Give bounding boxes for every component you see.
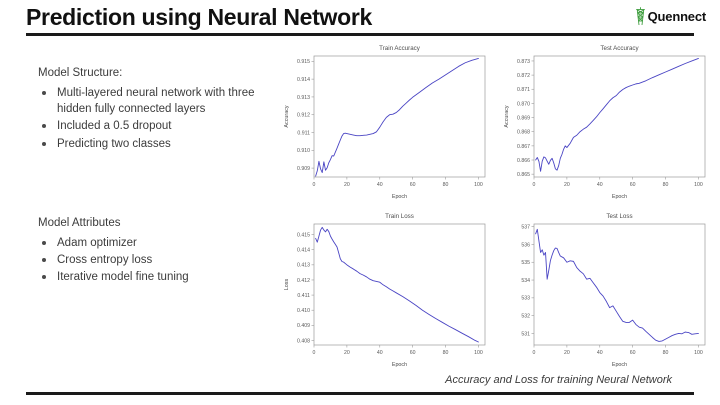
x-axis-tick-label: 20 <box>564 182 570 188</box>
y-axis-tick-label: 0.912 <box>297 113 310 119</box>
y-axis-tick-label: 0.872 <box>517 73 530 79</box>
footer-divider <box>26 392 694 395</box>
model-attributes-list: Adam optimizer Cross entropy loss Iterat… <box>38 235 260 286</box>
x-axis-tick-label: 60 <box>410 350 416 356</box>
brand-name: Quennect <box>648 9 706 24</box>
x-axis-tick-label: 40 <box>377 350 383 356</box>
chart-title: Test Loss <box>606 213 632 220</box>
x-axis-tick-label: 100 <box>694 182 703 188</box>
x-axis-tick-label: 40 <box>377 182 383 188</box>
y-axis-tick-label: 0.415 <box>297 232 310 238</box>
y-axis-tick-label: 536 <box>521 242 530 248</box>
x-axis-tick-label: 20 <box>344 182 350 188</box>
x-axis-tick-label: 0 <box>533 350 536 356</box>
x-axis-tick-label: 100 <box>474 350 483 356</box>
list-item-text: Iterative model fine tuning <box>57 271 189 283</box>
x-axis-tick-label: 80 <box>443 182 449 188</box>
list-item-text: Multi-layered neural network with three … <box>57 87 255 115</box>
y-axis-tick-label: 537 <box>521 225 530 231</box>
y-axis-tick-label: 535 <box>521 260 530 266</box>
list-item-text: Adam optimizer <box>57 237 137 249</box>
y-axis-tick-label: 0.866 <box>517 158 530 164</box>
y-axis-tick-label: 0.911 <box>297 130 310 136</box>
model-structure-list: Multi-layered neural network with three … <box>38 85 260 152</box>
list-item: Predicting two classes <box>38 136 260 152</box>
bullet-icon <box>42 275 46 279</box>
list-item: Multi-layered neural network with three … <box>38 85 260 118</box>
y-axis-tick-label: 534 <box>521 278 530 284</box>
x-axis-tick-label: 40 <box>597 182 603 188</box>
transmission-tower-icon <box>634 6 647 26</box>
chart-test-loss: Test Loss5315325335345355365370204060801… <box>498 208 713 371</box>
y-axis-tick-label: 0.913 <box>297 95 310 101</box>
y-axis-label: Accuracy <box>504 105 510 127</box>
y-axis-tick-label: 532 <box>521 314 530 320</box>
y-axis-tick-label: 0.915 <box>297 59 310 65</box>
chart-title: Train Accuracy <box>379 45 421 52</box>
series-line <box>316 58 479 176</box>
series-line <box>536 58 699 171</box>
chart-title: Train Loss <box>385 213 414 220</box>
x-axis-tick-label: 0 <box>313 350 316 356</box>
chart-train-accuracy: Train Accuracy0.9090.9100.9110.9120.9130… <box>278 40 493 203</box>
list-item: Included a 0.5 dropout <box>38 118 260 134</box>
x-axis-label: Epoch <box>612 194 627 200</box>
x-axis-tick-label: 60 <box>410 182 416 188</box>
bullet-icon <box>42 142 46 146</box>
chart-title: Test Accuracy <box>600 45 639 52</box>
figure-caption: Accuracy and Loss for training Neural Ne… <box>445 374 672 386</box>
x-axis-tick-label: 0 <box>533 182 536 188</box>
y-axis-tick-label: 0.871 <box>517 87 530 93</box>
x-axis-tick-label: 100 <box>694 350 703 356</box>
y-axis-tick-label: 0.413 <box>297 263 310 269</box>
y-axis-tick-label: 0.869 <box>517 115 530 121</box>
x-axis-tick-label: 40 <box>597 350 603 356</box>
bullet-icon <box>42 124 46 128</box>
model-structure-block: Model Structure: Multi-layered neural ne… <box>38 66 260 153</box>
page-title: Prediction using Neural Network <box>26 4 372 31</box>
y-axis-tick-label: 0.910 <box>297 148 310 154</box>
header-divider <box>26 33 694 36</box>
list-item: Iterative model fine tuning <box>38 269 260 285</box>
list-item-text: Included a 0.5 dropout <box>57 120 171 132</box>
x-axis-tick-label: 80 <box>663 350 669 356</box>
bullet-icon <box>42 91 46 95</box>
y-axis-tick-label: 531 <box>521 331 530 337</box>
y-axis-tick-label: 0.408 <box>297 338 310 344</box>
model-structure-heading: Model Structure: <box>38 66 260 82</box>
y-axis-tick-label: 0.409 <box>297 323 310 329</box>
list-item: Adam optimizer <box>38 235 260 251</box>
x-axis-tick-label: 60 <box>630 350 636 356</box>
y-axis-tick-label: 0.412 <box>297 278 310 284</box>
series-line <box>536 229 699 341</box>
y-axis-label: Accuracy <box>284 105 290 127</box>
list-item: Cross entropy loss <box>38 252 260 268</box>
x-axis-tick-label: 100 <box>474 182 483 188</box>
bullet-icon <box>42 241 46 245</box>
y-axis-tick-label: 0.868 <box>517 130 530 136</box>
x-axis-label: Epoch <box>392 194 407 200</box>
y-axis-tick-label: 0.873 <box>517 59 530 65</box>
y-axis-label: Loss <box>284 279 290 291</box>
y-axis-tick-label: 0.909 <box>297 166 310 172</box>
y-axis-tick-label: 533 <box>521 296 530 302</box>
x-axis-label: Epoch <box>392 362 407 368</box>
y-axis-tick-label: 0.411 <box>297 293 310 299</box>
y-axis-tick-label: 0.414 <box>297 248 310 254</box>
x-axis-tick-label: 60 <box>630 182 636 188</box>
list-item-text: Predicting two classes <box>57 138 171 150</box>
x-axis-tick-label: 20 <box>564 350 570 356</box>
chart-train-loss: Train Loss0.4080.4090.4100.4110.4120.413… <box>278 208 493 371</box>
brand-logo: Quennect <box>634 6 706 26</box>
bullet-icon <box>42 258 46 262</box>
y-axis-tick-label: 0.914 <box>297 77 310 83</box>
y-axis-tick-label: 0.867 <box>517 144 530 150</box>
chart-test-accuracy: Test Accuracy0.8650.8660.8670.8680.8690.… <box>498 40 713 203</box>
y-axis-tick-label: 0.865 <box>517 172 530 178</box>
x-axis-tick-label: 80 <box>443 350 449 356</box>
model-attributes-block: Model Attributes Adam optimizer Cross en… <box>38 216 260 287</box>
x-axis-label: Epoch <box>612 362 627 368</box>
y-axis-tick-label: 0.870 <box>517 101 530 107</box>
model-attributes-heading: Model Attributes <box>38 216 260 232</box>
series-line <box>316 227 479 342</box>
x-axis-tick-label: 0 <box>313 182 316 188</box>
y-axis-tick-label: 0.410 <box>297 308 310 314</box>
x-axis-tick-label: 20 <box>344 350 350 356</box>
x-axis-tick-label: 80 <box>663 182 669 188</box>
list-item-text: Cross entropy loss <box>57 254 152 266</box>
